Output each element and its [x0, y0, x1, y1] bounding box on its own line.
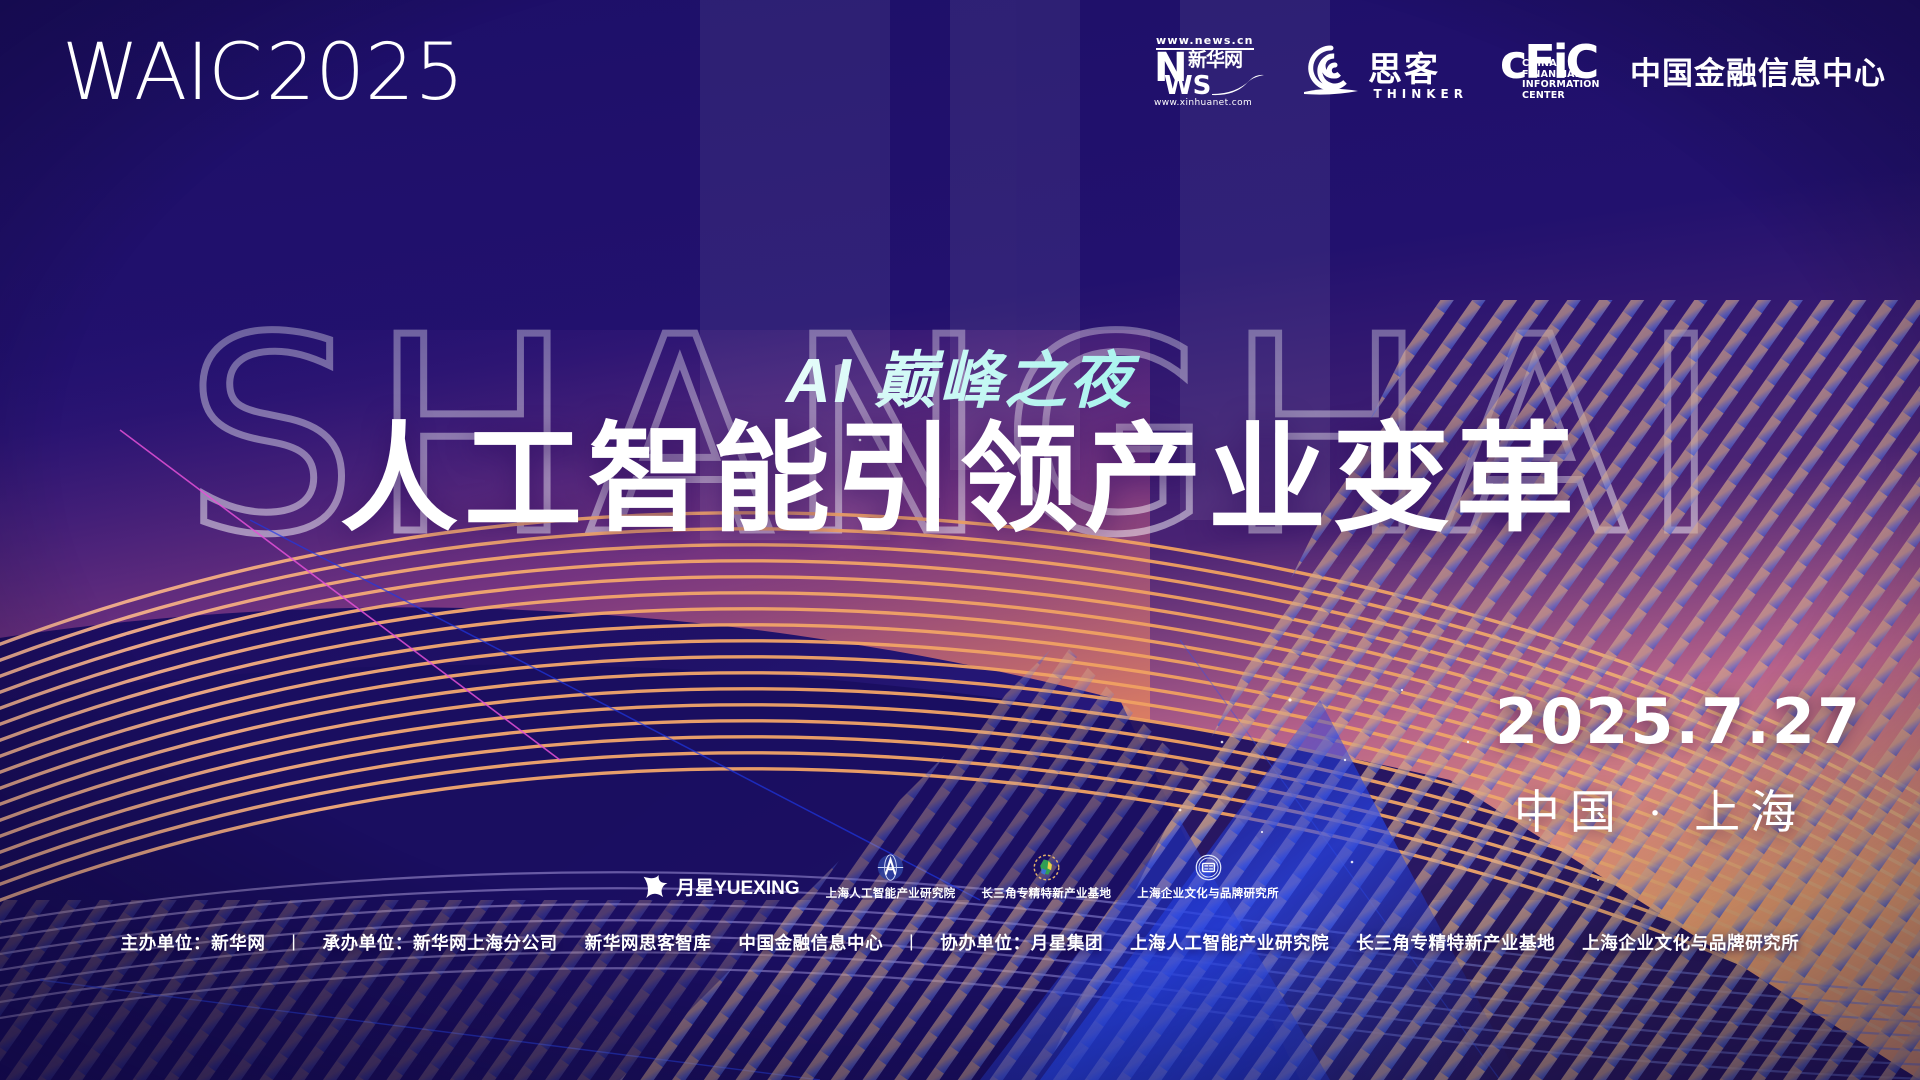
seal-badge-icon: [1194, 852, 1223, 882]
credit-organizer-2: 新华网思客智库: [585, 933, 712, 953]
cfic-zh-name: 中国金融信息中心: [1630, 48, 1886, 93]
xinhua-swoosh-icon: [1210, 74, 1266, 96]
sponsor-yuexing-en: YUEXING: [714, 878, 800, 899]
sponsor-corp-culture-institute-label: 上海企业文化与品牌研究所: [1137, 885, 1279, 901]
credit-separator-1: 丨: [271, 930, 317, 955]
credit-host: 主办单位：新华网: [121, 933, 266, 953]
partner-logo-cfic: cFiC CHINA FINANCIAL INFORMATION CENTER …: [1500, 37, 1886, 103]
waic-logo: WAIC2025: [62, 34, 464, 112]
star-swoosh-icon: [641, 871, 671, 901]
waic-logo-primary: WAIC: [62, 34, 262, 112]
xinhua-url-bottom: www.xinhuanet.com: [1154, 98, 1252, 108]
cfic-en-line2: INFORMATION CENTER: [1522, 80, 1618, 101]
thinker-zh-name: 思客: [1368, 52, 1440, 88]
credit-coorganizer-3: 长三角专精特新产业基地: [1356, 933, 1555, 953]
xinhua-letter-ws: WS: [1164, 74, 1211, 98]
globe-a-icon: [876, 852, 905, 882]
sponsor-shanghai-ai-institute-label: 上海人工智能产业研究院: [826, 885, 956, 901]
thinker-en-name: THINKER: [1374, 87, 1468, 101]
sponsor-yuexing: 月星YUEXING: [641, 871, 800, 901]
sponsor-yangtze-delta-base-label: 长三角专精特新产业基地: [981, 885, 1111, 901]
credit-separator-2: 丨: [889, 930, 935, 955]
event-city: 中国 · 上海: [1495, 776, 1825, 842]
sponsor-shanghai-ai-institute: 上海人工智能产业研究院: [826, 852, 956, 901]
sponsor-logo-strip: 月星YUEXING 上海人工智能产业研究院: [0, 852, 1920, 901]
partner-logo-xinhua: www.news.cn N 新华网 WS www.xinhuanet.com: [1152, 34, 1270, 106]
credits-line: 主办单位：新华网 丨 承办单位：新华网上海分公司 新华网思客智库 中国金融信息中…: [0, 930, 1920, 955]
credit-organizer: 承办单位：新华网上海分公司: [322, 933, 557, 953]
credit-coorganizer-2: 上海人工智能产业研究院: [1130, 933, 1329, 953]
sponsor-corp-culture-institute: 上海企业文化与品牌研究所: [1137, 852, 1279, 901]
sponsor-yuexing-zh: 月星: [676, 878, 714, 899]
credit-coorganizer: 协办单位：月星集团: [940, 933, 1103, 953]
event-date: 2025.7.27: [1495, 690, 1825, 754]
partner-logo-group: www.news.cn N 新华网 WS www.xinhuanet.com: [1152, 34, 1886, 106]
sponsor-yangtze-delta-base: 长三角专精特新产业基地: [981, 852, 1111, 901]
event-date-block: 2025.7.27 中国 · 上海: [1495, 690, 1825, 842]
xinhua-zh-name: 新华网: [1188, 51, 1242, 71]
thinker-spiral-icon: [1300, 42, 1362, 98]
waic-logo-year: 2025: [266, 34, 465, 112]
cfic-en-line1: CHINA FINANCIAL: [1522, 59, 1618, 80]
sponsor-yuexing-label: 月星YUEXING: [676, 873, 800, 900]
poster-canvas: SHANGHAI: [0, 0, 1920, 1080]
credit-coorganizer-4: 上海企业文化与品牌研究所: [1582, 933, 1799, 953]
background-artwork: SHANGHAI: [0, 0, 1920, 1080]
poster-header: WAIC2025 www.news.cn N 新华网 WS www.xinhua…: [0, 0, 1920, 140]
partner-logo-thinker: 思客 THINKER: [1300, 37, 1470, 103]
circular-map-icon: [1032, 852, 1061, 882]
credit-organizer-3: 中国金融信息中心: [738, 933, 883, 953]
cfic-en-name: CHINA FINANCIAL INFORMATION CENTER: [1522, 59, 1618, 101]
